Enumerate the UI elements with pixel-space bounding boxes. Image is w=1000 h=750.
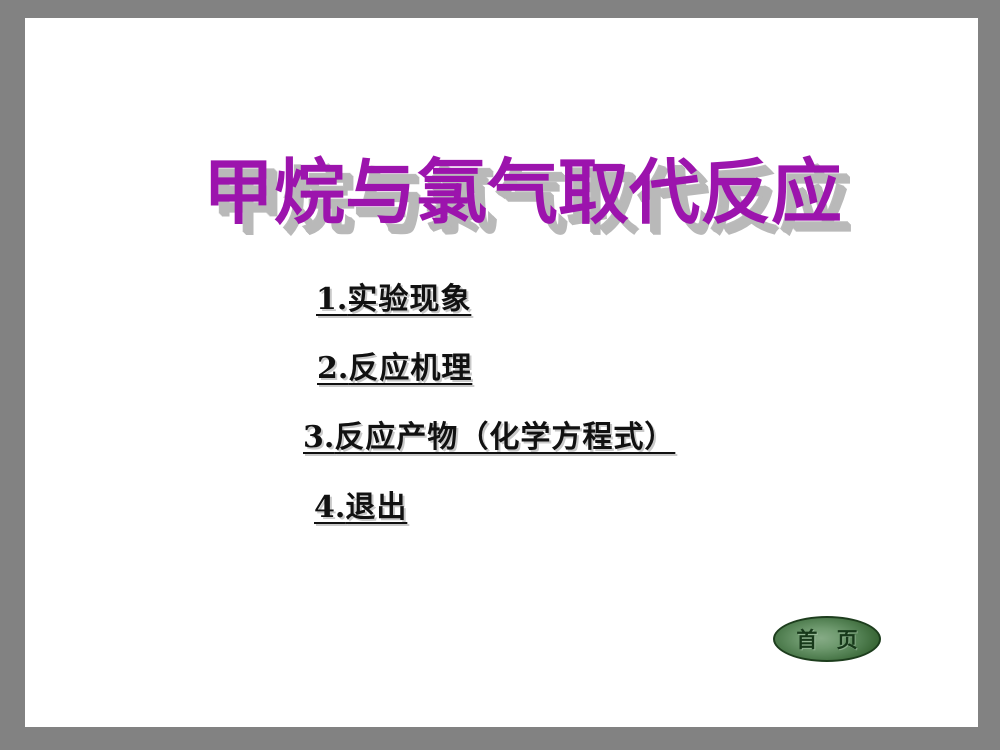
- menu-item-label: 实验现象: [347, 282, 471, 317]
- menu-item-label: 反应产物（化学方程式）: [334, 420, 675, 455]
- menu-item-exit[interactable]: 4.退出: [314, 488, 407, 528]
- menu-item-number: 2.: [317, 351, 348, 386]
- menu-item-label: 退出: [345, 490, 407, 525]
- slide-outer-frame: 甲烷与氯气取代反应 1.实验现象 2.反应机理 3.反应产物（化学方程式） 4.…: [0, 0, 1000, 750]
- menu-item-number: 3.: [303, 420, 334, 455]
- menu-item-label: 反应机理: [348, 351, 472, 386]
- slide-canvas: 甲烷与氯气取代反应 1.实验现象 2.反应机理 3.反应产物（化学方程式） 4.…: [25, 18, 978, 727]
- home-button[interactable]: 首 页: [773, 616, 881, 662]
- home-button-label: 首 页: [790, 624, 863, 654]
- menu-item-experiment-phenomena[interactable]: 1.实验现象: [316, 280, 471, 320]
- menu-item-number: 1.: [316, 282, 347, 317]
- menu-item-reaction-mechanism[interactable]: 2.反应机理: [317, 349, 472, 389]
- menu-item-reaction-products[interactable]: 3.反应产物（化学方程式）: [303, 418, 675, 458]
- menu-item-number: 4.: [314, 490, 345, 525]
